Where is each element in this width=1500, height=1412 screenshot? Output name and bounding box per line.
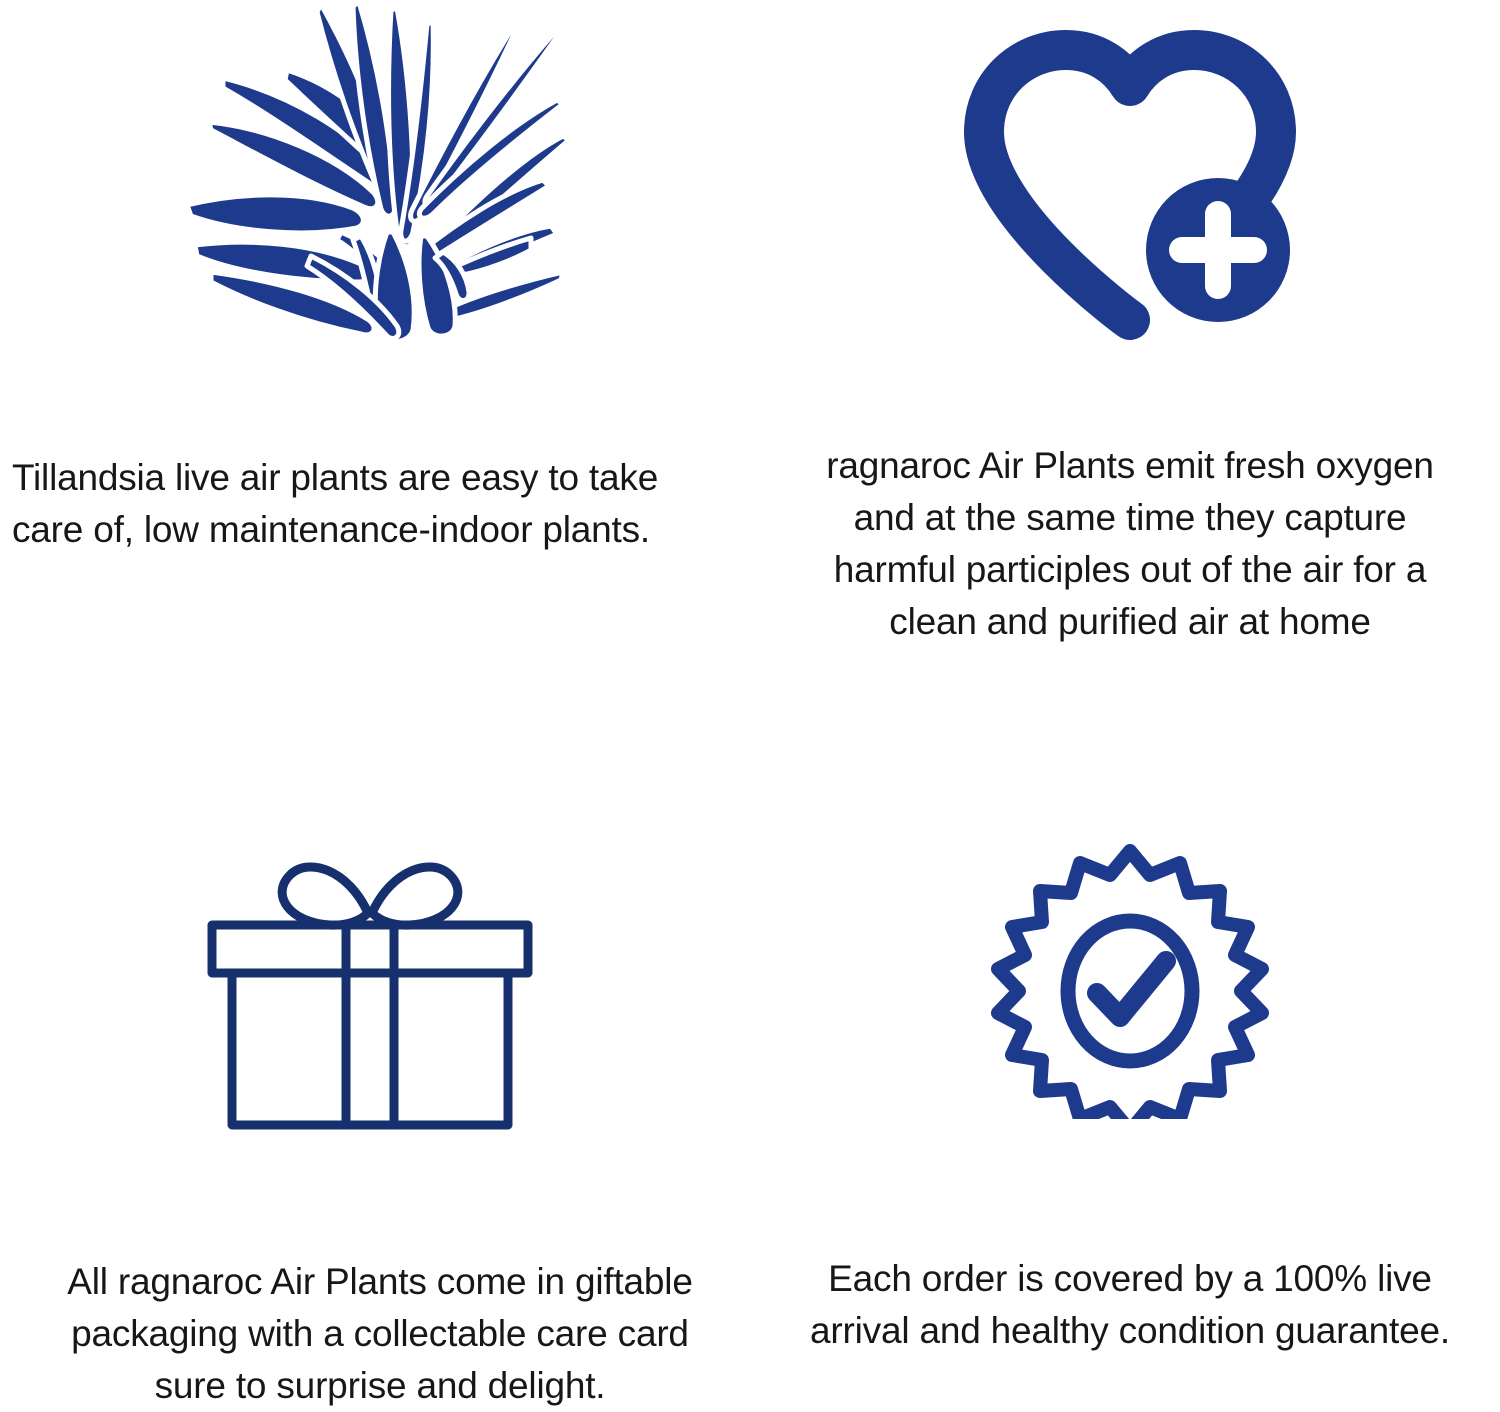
verified-badge-icon (980, 841, 1280, 1119)
feature-caption: ragnaroc Air Plants emit fresh oxygen an… (760, 440, 1500, 648)
feature-grid-page: Tillandsia live air plants are easy to t… (0, 0, 1500, 1362)
feature-caption: Tillandsia live air plants are easy to t… (4, 452, 756, 556)
feature-card-live-arrival-guarantee: Each order is covered by a 100% live arr… (760, 681, 1500, 1362)
feature-card-air-plant-care: Tillandsia live air plants are easy to t… (0, 0, 760, 681)
feature-caption: Each order is covered by a 100% live arr… (760, 1253, 1500, 1357)
feature-grid: Tillandsia live air plants are easy to t… (0, 0, 1500, 1362)
feature-caption: All ragnaroc Air Plants come in giftable… (10, 1256, 750, 1412)
feature-card-giftable-packaging: All ragnaroc Air Plants come in giftable… (0, 681, 760, 1362)
feature-card-air-purifying: ragnaroc Air Plants emit fresh oxygen an… (760, 0, 1500, 681)
air-plant-icon (165, 0, 585, 340)
heart-plus-icon (950, 28, 1310, 348)
gift-box-icon (190, 851, 550, 1131)
